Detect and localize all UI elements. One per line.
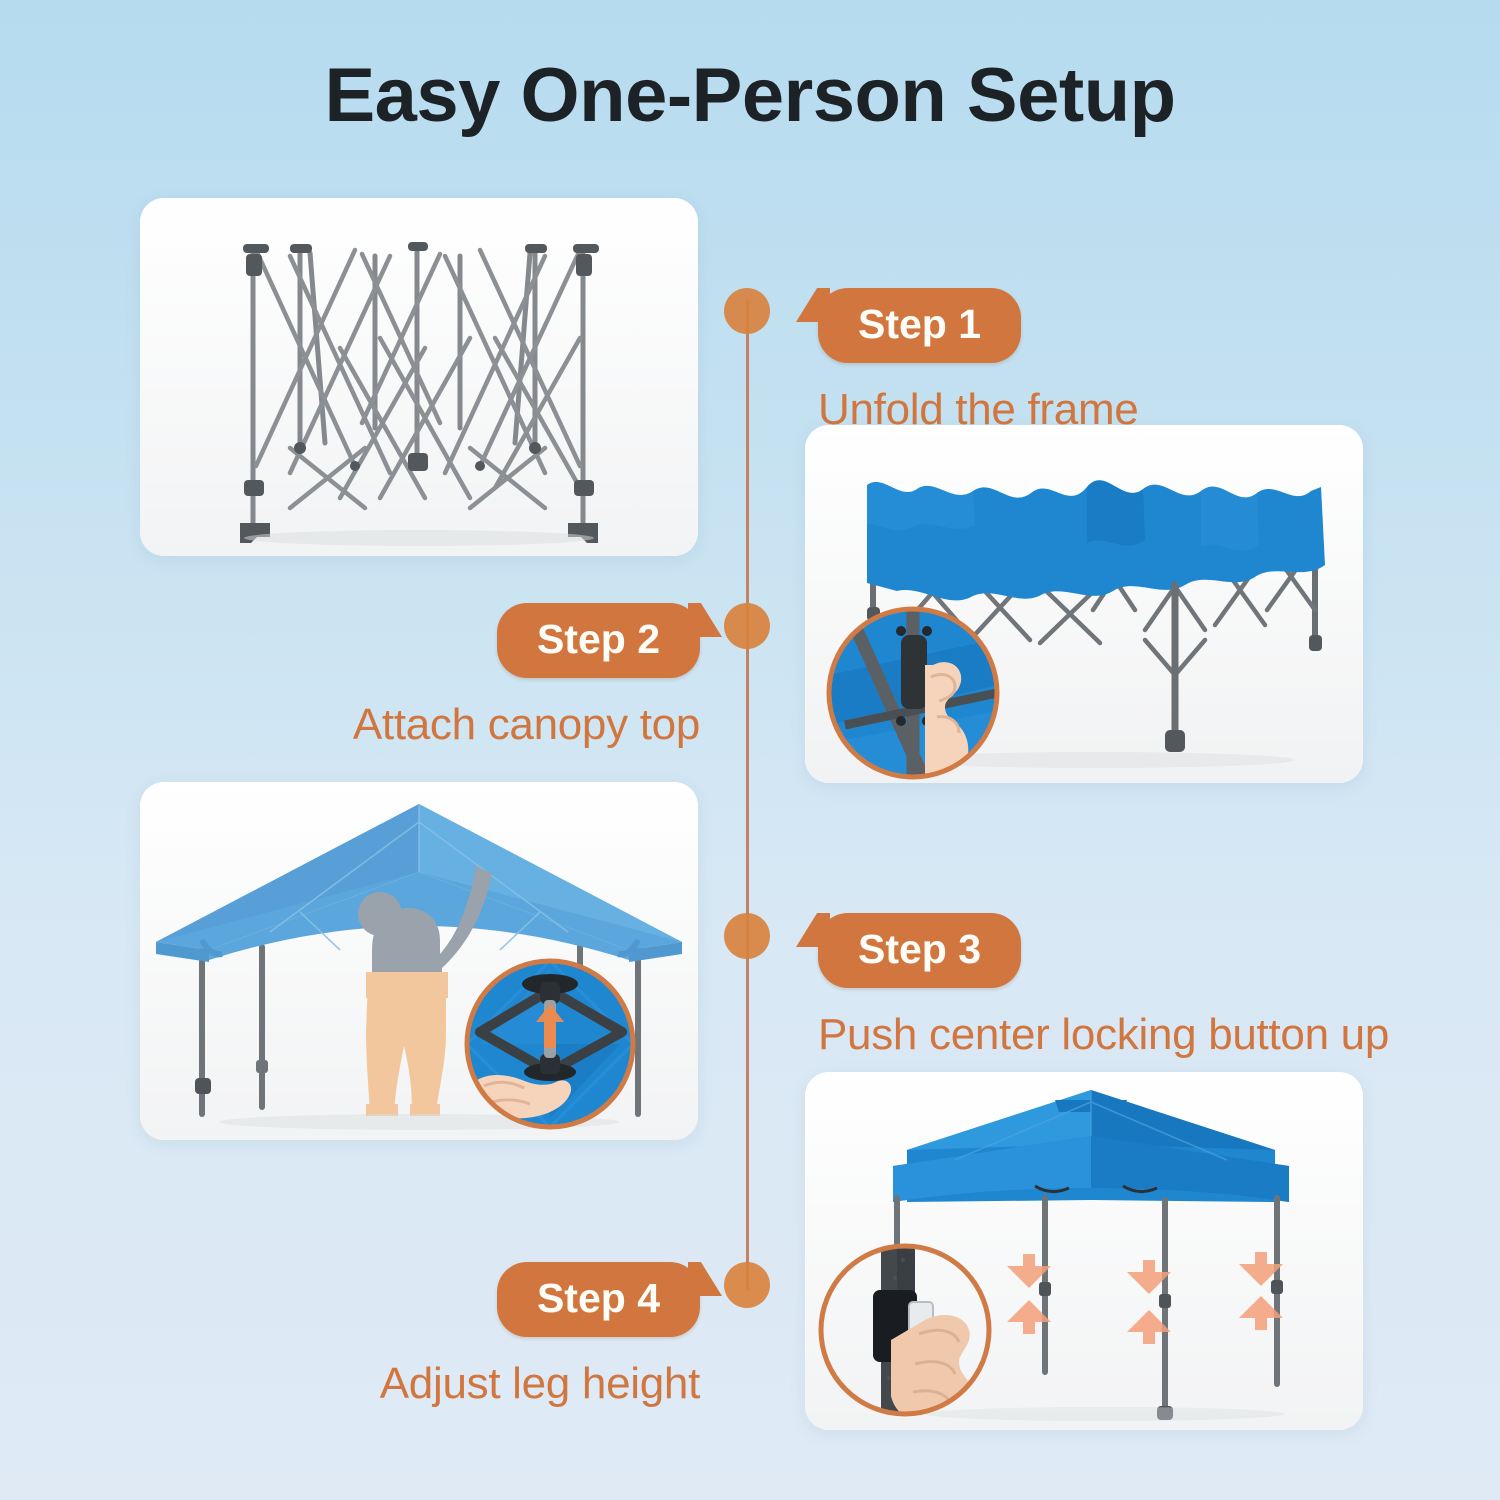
- canopy-attach-photo: [805, 425, 1363, 783]
- adjust-leg-photo: [805, 1072, 1363, 1430]
- step-block-3: Step 3 Push center locking button up: [818, 913, 1389, 1060]
- step-image-card-3: [140, 782, 698, 1140]
- timeline-line: [746, 300, 749, 1290]
- step-image-card-1: [140, 198, 698, 556]
- timeline-dot-step-3: [724, 913, 770, 959]
- page-title: Easy One-Person Setup: [0, 52, 1500, 139]
- step-badge-3: Step 3: [818, 913, 1021, 988]
- push-center-photo: [140, 782, 698, 1140]
- timeline-dot-step-4: [724, 1262, 770, 1308]
- step-block-4: Step 4 Adjust leg height: [300, 1262, 700, 1409]
- infographic-page: Easy One-Person Setup Step 1 Unfold the …: [0, 0, 1500, 1500]
- step-badge-1: Step 1: [818, 288, 1021, 363]
- step-badge-4: Step 4: [497, 1262, 700, 1337]
- step-description-4: Adjust leg height: [300, 1359, 700, 1409]
- timeline-dot-step-1: [724, 288, 770, 334]
- step-description-3: Push center locking button up: [818, 1010, 1389, 1060]
- step-image-card-4: [805, 1072, 1363, 1430]
- step-block-2: Step 2 Attach canopy top: [300, 603, 700, 750]
- folded-frame-photo: [140, 198, 698, 556]
- step-badge-2: Step 2: [497, 603, 700, 678]
- step-description-2: Attach canopy top: [300, 700, 700, 750]
- step-block-1: Step 1 Unfold the frame: [818, 288, 1138, 435]
- inset-detail-center-hub: [467, 961, 633, 1127]
- timeline-dot-step-2: [724, 603, 770, 649]
- step-image-card-2: [805, 425, 1363, 783]
- inset-detail-attach: [829, 609, 997, 777]
